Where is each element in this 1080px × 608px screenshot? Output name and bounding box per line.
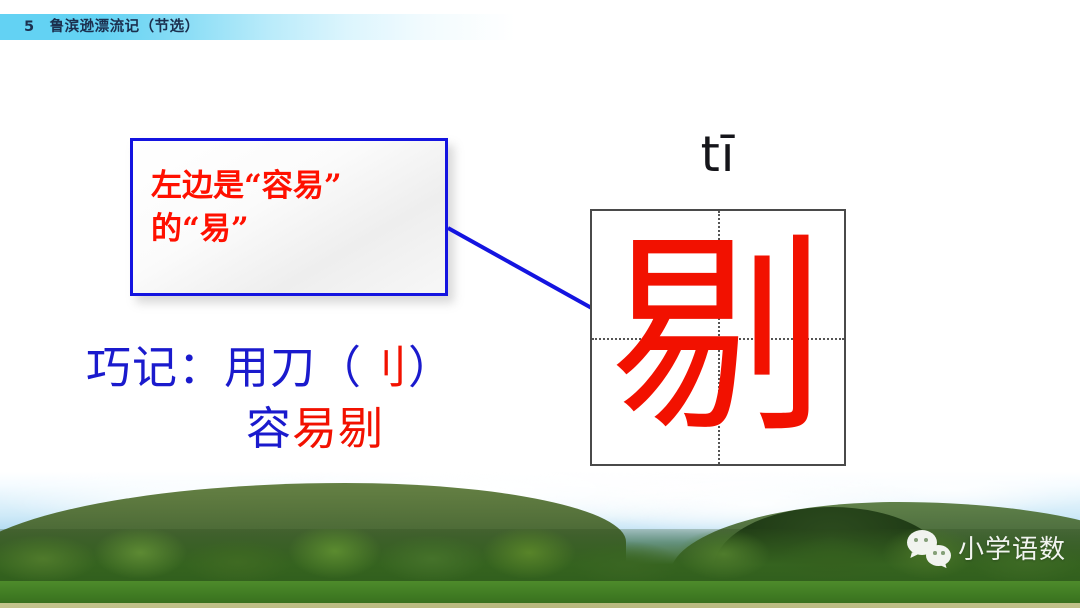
wechat-eye	[924, 538, 928, 542]
character-grid-box: 剔	[590, 209, 846, 466]
slide-canvas: 5 鲁滨逊漂流记（节选） 左边是“容易” 的“易” tī 剔 巧记：用刀（刂） …	[0, 0, 1080, 608]
mnemonic-l2-part-0: 容	[246, 402, 292, 455]
wechat-eye	[914, 538, 918, 542]
callout-box: 左边是“容易” 的“易”	[130, 138, 448, 296]
mnemonic-line-1: 巧记：用刀（刂）	[60, 338, 520, 399]
mnemonic-line-2: 容易剔	[60, 399, 520, 460]
wechat-icon	[907, 530, 951, 566]
pinyin-label: tī	[590, 126, 846, 183]
wechat-eye	[941, 551, 945, 555]
mnemonic-l1-part-1: 刂	[362, 341, 408, 394]
mnemonic-l2-part-1: 易剔	[292, 402, 384, 455]
watermark: 小学语数	[907, 529, 1066, 566]
callout-text: 左边是“容易” 的“易”	[151, 165, 441, 251]
page-title: 5 鲁滨逊漂流记（节选）	[24, 16, 200, 38]
wechat-bubble-small	[926, 545, 951, 566]
target-character: 剔	[592, 211, 844, 464]
wechat-eye	[933, 551, 937, 555]
mnemonic-l1-part-0: 巧记：用刀（	[86, 341, 362, 394]
mnemonic-text: 巧记：用刀（刂） 容易剔	[60, 338, 520, 460]
photo-bottom-strip	[0, 603, 1080, 608]
watermark-text: 小学语数	[958, 529, 1066, 566]
mnemonic-l1-part-2: ）	[408, 341, 454, 394]
